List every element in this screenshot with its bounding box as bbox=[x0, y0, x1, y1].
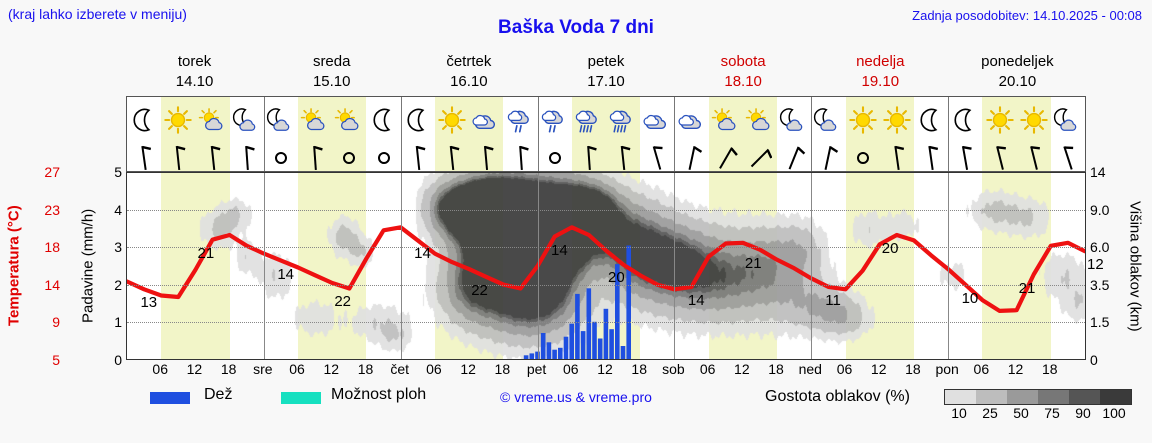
temperature-tick-1: 23 bbox=[44, 202, 60, 218]
x-tick-10: 18 bbox=[495, 361, 511, 377]
x-tick-8: 06 bbox=[426, 361, 442, 377]
x-tick-19: ned bbox=[799, 361, 822, 377]
day-separator-6 bbox=[948, 97, 949, 171]
temperature-label-4: 14 bbox=[414, 245, 431, 262]
cloud-rain-heavy-icon bbox=[606, 97, 640, 142]
sun-cloud-icon bbox=[195, 97, 229, 142]
wind-barb-27 bbox=[1051, 142, 1085, 172]
rain-legend-swatch bbox=[150, 392, 190, 404]
wind-barb-24 bbox=[948, 142, 982, 172]
precipitation-tick-1: 4 bbox=[114, 202, 122, 218]
moon-icon bbox=[914, 97, 948, 142]
moon-icon bbox=[948, 97, 982, 142]
temperature-label-6: 14 bbox=[551, 242, 568, 259]
gridline-h-4 bbox=[127, 322, 1085, 323]
x-tick-3: sre bbox=[253, 361, 272, 377]
last-updated: Zadnja posodobitev: 14.10.2025 - 00:08 bbox=[912, 8, 1142, 23]
temperature-label-2: 14 bbox=[277, 266, 294, 283]
temperature-label-13: 21 bbox=[1019, 280, 1036, 297]
x-tick-5: 12 bbox=[323, 361, 339, 377]
gridline-h-1 bbox=[127, 210, 1085, 211]
day-name: četrtek bbox=[400, 52, 537, 72]
wind-barb-13 bbox=[572, 142, 606, 172]
sun-cloud-icon bbox=[332, 97, 366, 142]
wind-barb-21 bbox=[846, 142, 880, 172]
gridline-v-day-6 bbox=[948, 173, 949, 359]
copyright-text[interactable]: © vreme.us & vreme.pro bbox=[500, 389, 652, 405]
precipitation-tick-4: 1 bbox=[114, 314, 122, 330]
sun-icon bbox=[161, 97, 195, 142]
wind-barb-3 bbox=[230, 142, 264, 172]
wind-barb-18 bbox=[743, 142, 777, 172]
temperature-tick-4: 9 bbox=[52, 314, 60, 330]
temperature-axis-ticks: 2723181495 bbox=[28, 164, 60, 368]
cloud-height-axis-title: Višina oblakov (km) bbox=[1122, 172, 1148, 360]
sun-icon bbox=[1017, 97, 1051, 142]
cloud-height-tick-2: 6.0 bbox=[1090, 239, 1109, 255]
day-date: 15.10 bbox=[263, 72, 400, 92]
x-tick-26: 18 bbox=[1042, 361, 1058, 377]
temperature-label-11: 20 bbox=[882, 240, 899, 257]
showers-legend-label: Možnost ploh bbox=[331, 386, 426, 404]
cloud-icon bbox=[640, 97, 674, 142]
cloud-legend-tick-5: 100 bbox=[1102, 405, 1125, 421]
gridline-v-day-2 bbox=[401, 173, 402, 359]
wind-barb-11 bbox=[503, 142, 537, 172]
gridline-h-2 bbox=[127, 247, 1085, 248]
wind-barb-4 bbox=[264, 142, 298, 172]
rain-legend-label: Dež bbox=[204, 386, 232, 404]
cloud-legend-swatch-4 bbox=[1069, 390, 1100, 404]
wind-barb-16 bbox=[675, 142, 709, 172]
x-tick-15: sob bbox=[662, 361, 685, 377]
x-tick-7: čet bbox=[390, 361, 409, 377]
day-date: 14.10 bbox=[126, 72, 263, 92]
wind-barb-23 bbox=[914, 142, 948, 172]
temperature-tick-2: 18 bbox=[44, 239, 60, 255]
gridline-v-day-4 bbox=[674, 173, 675, 359]
wind-barb-6 bbox=[332, 142, 366, 172]
wind-barb-1 bbox=[161, 142, 195, 172]
precipitation-tick-5: 0 bbox=[114, 352, 122, 368]
precipitation-axis-title: Padavine (mm/h) bbox=[76, 172, 100, 360]
temperature-label-7: 20 bbox=[608, 269, 625, 286]
x-tick-17: 12 bbox=[734, 361, 750, 377]
x-tick-12: 06 bbox=[563, 361, 579, 377]
x-tick-11: pet bbox=[527, 361, 546, 377]
cloud-height-tick-5: 0 bbox=[1090, 352, 1098, 368]
cloud-legend-swatch-2 bbox=[1007, 390, 1038, 404]
forecast-plot bbox=[126, 172, 1086, 360]
cloud-legend-tick-2: 50 bbox=[1013, 405, 1029, 421]
wind-barb-22 bbox=[880, 142, 914, 172]
cloud-legend-swatch-3 bbox=[1038, 390, 1069, 404]
sun-cloud-icon bbox=[709, 97, 743, 142]
wind-barb-9 bbox=[435, 142, 469, 172]
day-header-row: torek14.10sreda15.10četrtek16.10petek17.… bbox=[126, 52, 1086, 94]
wind-barb-8 bbox=[401, 142, 435, 172]
cloud-icon bbox=[469, 97, 503, 142]
cloud-icon bbox=[675, 97, 709, 142]
day-date: 16.10 bbox=[400, 72, 537, 92]
moon-icon bbox=[367, 97, 401, 142]
day-date: 17.10 bbox=[537, 72, 674, 92]
day-header-6: ponedeljek20.10 bbox=[949, 52, 1086, 94]
day-separator-1 bbox=[264, 97, 265, 171]
wind-barb-17 bbox=[709, 142, 743, 172]
day-date: 18.10 bbox=[675, 72, 812, 92]
wind-barb-25 bbox=[982, 142, 1016, 172]
day-name: nedelja bbox=[812, 52, 949, 72]
cloud-rain-light-icon bbox=[503, 97, 537, 142]
x-tick-1: 12 bbox=[187, 361, 203, 377]
cloud-legend-tick-0: 10 bbox=[951, 405, 967, 421]
temperature-label-10: 11 bbox=[825, 292, 841, 309]
cloud-height-tick-3: 3.5 bbox=[1090, 277, 1109, 293]
temperature-label-14: 12 bbox=[1087, 256, 1104, 273]
cloud-legend-swatch-5 bbox=[1100, 390, 1131, 404]
sun-icon bbox=[846, 97, 880, 142]
precipitation-axis-ticks: 543210 bbox=[100, 164, 122, 368]
gridline-v-day-3 bbox=[538, 173, 539, 359]
cloud-legend-tick-3: 75 bbox=[1044, 405, 1060, 421]
weather-icon-row bbox=[127, 97, 1085, 142]
wind-barb-20 bbox=[811, 142, 845, 172]
wind-barb-0 bbox=[127, 142, 161, 172]
wind-barb-26 bbox=[1017, 142, 1051, 172]
day-header-1: sreda15.10 bbox=[263, 52, 400, 94]
day-header-2: četrtek16.10 bbox=[400, 52, 537, 94]
wind-barb-19 bbox=[777, 142, 811, 172]
moon-icon bbox=[401, 97, 435, 142]
sun-cloud-icon bbox=[298, 97, 332, 142]
day-name: sreda bbox=[263, 52, 400, 72]
wind-barb-row bbox=[127, 142, 1085, 172]
cloud-legend-tick-1: 25 bbox=[982, 405, 998, 421]
day-date: 19.10 bbox=[812, 72, 949, 92]
temperature-axis-title: Temperatura (°C) bbox=[2, 172, 26, 360]
cloud-height-tick-4: 1.5 bbox=[1090, 314, 1109, 330]
temperature-label-9: 21 bbox=[745, 255, 762, 272]
wind-barb-14 bbox=[606, 142, 640, 172]
cloud-legend-tick-4: 90 bbox=[1075, 405, 1091, 421]
day-separator-4 bbox=[674, 97, 675, 171]
cloud-rain-light-icon bbox=[538, 97, 572, 142]
x-tick-24: 06 bbox=[974, 361, 990, 377]
day-date: 20.10 bbox=[949, 72, 1086, 92]
temperature-tick-3: 14 bbox=[44, 277, 60, 293]
moon-cloud-icon bbox=[264, 97, 298, 142]
wind-barb-12 bbox=[538, 142, 572, 172]
x-tick-25: 12 bbox=[1008, 361, 1024, 377]
cloud-legend-swatch-0 bbox=[945, 390, 976, 404]
x-tick-9: 12 bbox=[460, 361, 476, 377]
x-tick-14: 18 bbox=[631, 361, 647, 377]
x-tick-13: 12 bbox=[597, 361, 613, 377]
day-name: sobota bbox=[675, 52, 812, 72]
cloud-height-tick-1: 9.0 bbox=[1090, 202, 1109, 218]
day-header-3: petek17.10 bbox=[537, 52, 674, 94]
day-header-0: torek14.10 bbox=[126, 52, 263, 94]
temperature-label-1: 21 bbox=[197, 245, 214, 262]
cloud-height-tick-0: 14 bbox=[1090, 164, 1106, 180]
wind-barb-10 bbox=[469, 142, 503, 172]
precipitation-tick-0: 5 bbox=[114, 164, 122, 180]
moon-cloud-icon bbox=[1051, 97, 1085, 142]
moon-cloud-icon bbox=[777, 97, 811, 142]
wind-barb-7 bbox=[367, 142, 401, 172]
sun-icon bbox=[982, 97, 1016, 142]
cloud-density-legend-ticks: 1025507590100 bbox=[944, 405, 1144, 425]
cloud-density-legend-bar bbox=[944, 389, 1132, 405]
x-tick-4: 06 bbox=[289, 361, 305, 377]
x-tick-20: 06 bbox=[837, 361, 853, 377]
x-tick-23: pon bbox=[935, 361, 958, 377]
precipitation-tick-3: 2 bbox=[114, 277, 122, 293]
day-header-5: nedelja19.10 bbox=[812, 52, 949, 94]
x-tick-2: 18 bbox=[221, 361, 237, 377]
x-axis-tick-labels: 061218sre061218čet061218pet061218sob0612… bbox=[126, 361, 1086, 381]
precipitation-tick-2: 3 bbox=[114, 239, 122, 255]
wind-barb-5 bbox=[298, 142, 332, 172]
temperature-label-8: 14 bbox=[688, 292, 705, 309]
day-separator-5 bbox=[811, 97, 812, 171]
x-tick-21: 12 bbox=[871, 361, 887, 377]
gridline-v-day-5 bbox=[811, 173, 812, 359]
sun-icon bbox=[880, 97, 914, 142]
x-tick-16: 06 bbox=[700, 361, 716, 377]
day-name: petek bbox=[537, 52, 674, 72]
sun-cloud-icon bbox=[743, 97, 777, 142]
temperature-label-12: 10 bbox=[962, 290, 979, 307]
gridline-v-day-1 bbox=[264, 173, 265, 359]
wind-barb-2 bbox=[195, 142, 229, 172]
moon-cloud-icon bbox=[811, 97, 845, 142]
weather-icon-band bbox=[126, 96, 1086, 172]
moon-icon bbox=[127, 97, 161, 142]
showers-legend-swatch bbox=[281, 392, 321, 404]
cloud-legend-swatch-1 bbox=[976, 390, 1007, 404]
gridline-h-3 bbox=[127, 285, 1085, 286]
wind-barb-15 bbox=[640, 142, 674, 172]
day-separator-2 bbox=[401, 97, 402, 171]
day-separator-3 bbox=[538, 97, 539, 171]
day-name: torek bbox=[126, 52, 263, 72]
cloud-density-legend-title: Gostota oblakov (%) bbox=[765, 388, 910, 406]
sun-icon bbox=[435, 97, 469, 142]
temperature-label-3: 22 bbox=[334, 293, 351, 310]
temperature-tick-0: 27 bbox=[44, 164, 60, 180]
temperature-curve bbox=[127, 173, 1085, 359]
day-header-4: sobota18.10 bbox=[675, 52, 812, 94]
day-name: ponedeljek bbox=[949, 52, 1086, 72]
moon-cloud-icon bbox=[230, 97, 264, 142]
temperature-label-0: 13 bbox=[140, 294, 157, 311]
x-tick-0: 06 bbox=[152, 361, 168, 377]
x-tick-22: 18 bbox=[905, 361, 921, 377]
temperature-tick-5: 5 bbox=[52, 352, 60, 368]
x-tick-6: 18 bbox=[358, 361, 374, 377]
x-tick-18: 18 bbox=[768, 361, 784, 377]
temperature-label-5: 22 bbox=[471, 282, 488, 299]
cloud-rain-heavy-icon bbox=[572, 97, 606, 142]
